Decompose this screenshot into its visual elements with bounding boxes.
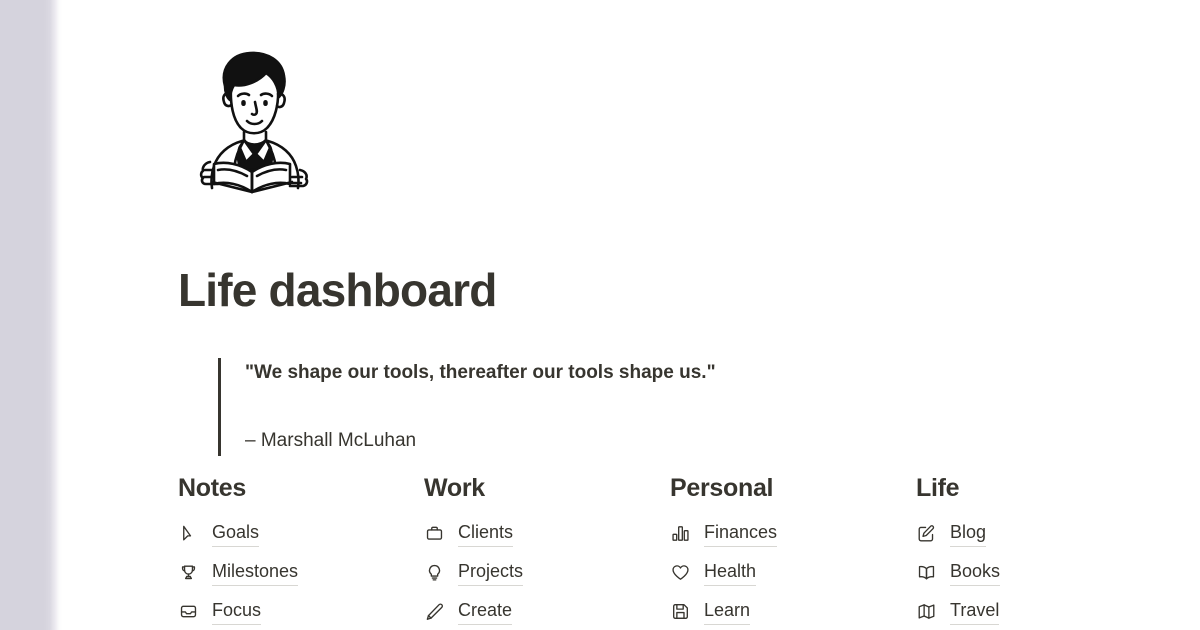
link-row-books[interactable]: Books [916, 553, 1162, 592]
link-row-create[interactable]: Create [424, 592, 670, 630]
link-row-clients[interactable]: Clients [424, 514, 670, 553]
pencil-icon [424, 602, 444, 622]
briefcase-icon [424, 524, 444, 544]
page-content: Life dashboard "We shape our tools, ther… [62, 0, 1200, 630]
link-create[interactable]: Create [458, 599, 512, 625]
floppy-disk-icon [670, 602, 690, 622]
link-row-finances[interactable]: Finances [670, 514, 916, 553]
open-book-icon [916, 563, 936, 583]
column-heading-personal: Personal [670, 472, 916, 504]
link-goals[interactable]: Goals [212, 521, 259, 547]
inbox-tray-icon [178, 602, 198, 622]
link-clients[interactable]: Clients [458, 521, 513, 547]
quote-attribution: – Marshall McLuhan [245, 426, 978, 456]
link-row-blog[interactable]: Blog [916, 514, 1162, 553]
link-row-goals[interactable]: Goals [178, 514, 424, 553]
notion-page: Life dashboard "We shape our tools, ther… [0, 0, 1200, 630]
column-heading-notes: Notes [178, 472, 424, 504]
link-row-health[interactable]: Health [670, 553, 916, 592]
link-row-focus[interactable]: Focus [178, 592, 424, 630]
edit-square-icon [916, 524, 936, 544]
link-blog[interactable]: Blog [950, 521, 986, 547]
link-column-personal: Personal Finances [670, 472, 916, 630]
link-column-work: Work Clients [424, 472, 670, 630]
link-row-projects[interactable]: Projects [424, 553, 670, 592]
column-heading-life: Life [916, 472, 1162, 504]
link-columns: Notes Goals [178, 472, 1178, 630]
lightbulb-icon [424, 563, 444, 583]
bar-chart-icon [670, 524, 690, 544]
trophy-icon [178, 563, 198, 583]
link-focus[interactable]: Focus [212, 599, 261, 625]
cursor-arrow-icon [178, 524, 198, 544]
link-row-travel[interactable]: Travel [916, 592, 1162, 630]
quote-spacer [245, 388, 978, 426]
link-health[interactable]: Health [704, 560, 756, 586]
link-finances[interactable]: Finances [704, 521, 777, 547]
link-learn[interactable]: Learn [704, 599, 750, 625]
link-row-milestones[interactable]: Milestones [178, 553, 424, 592]
person-reading-book-illustration [178, 42, 326, 194]
link-column-notes: Notes Goals [178, 472, 424, 630]
link-projects[interactable]: Projects [458, 560, 523, 586]
link-travel[interactable]: Travel [950, 599, 999, 625]
quote-text: "We shape our tools, thereafter our tool… [245, 358, 978, 388]
link-books[interactable]: Books [950, 560, 1000, 586]
quote-block: "We shape our tools, thereafter our tool… [218, 358, 978, 456]
column-heading-work: Work [424, 472, 670, 504]
heart-icon [670, 563, 690, 583]
link-row-learn[interactable]: Learn [670, 592, 916, 630]
link-milestones[interactable]: Milestones [212, 560, 298, 586]
sidebar-rail[interactable] [0, 0, 62, 630]
page-title: Life dashboard [178, 262, 497, 318]
folded-map-icon [916, 602, 936, 622]
link-column-life: Life Blog [916, 472, 1162, 630]
